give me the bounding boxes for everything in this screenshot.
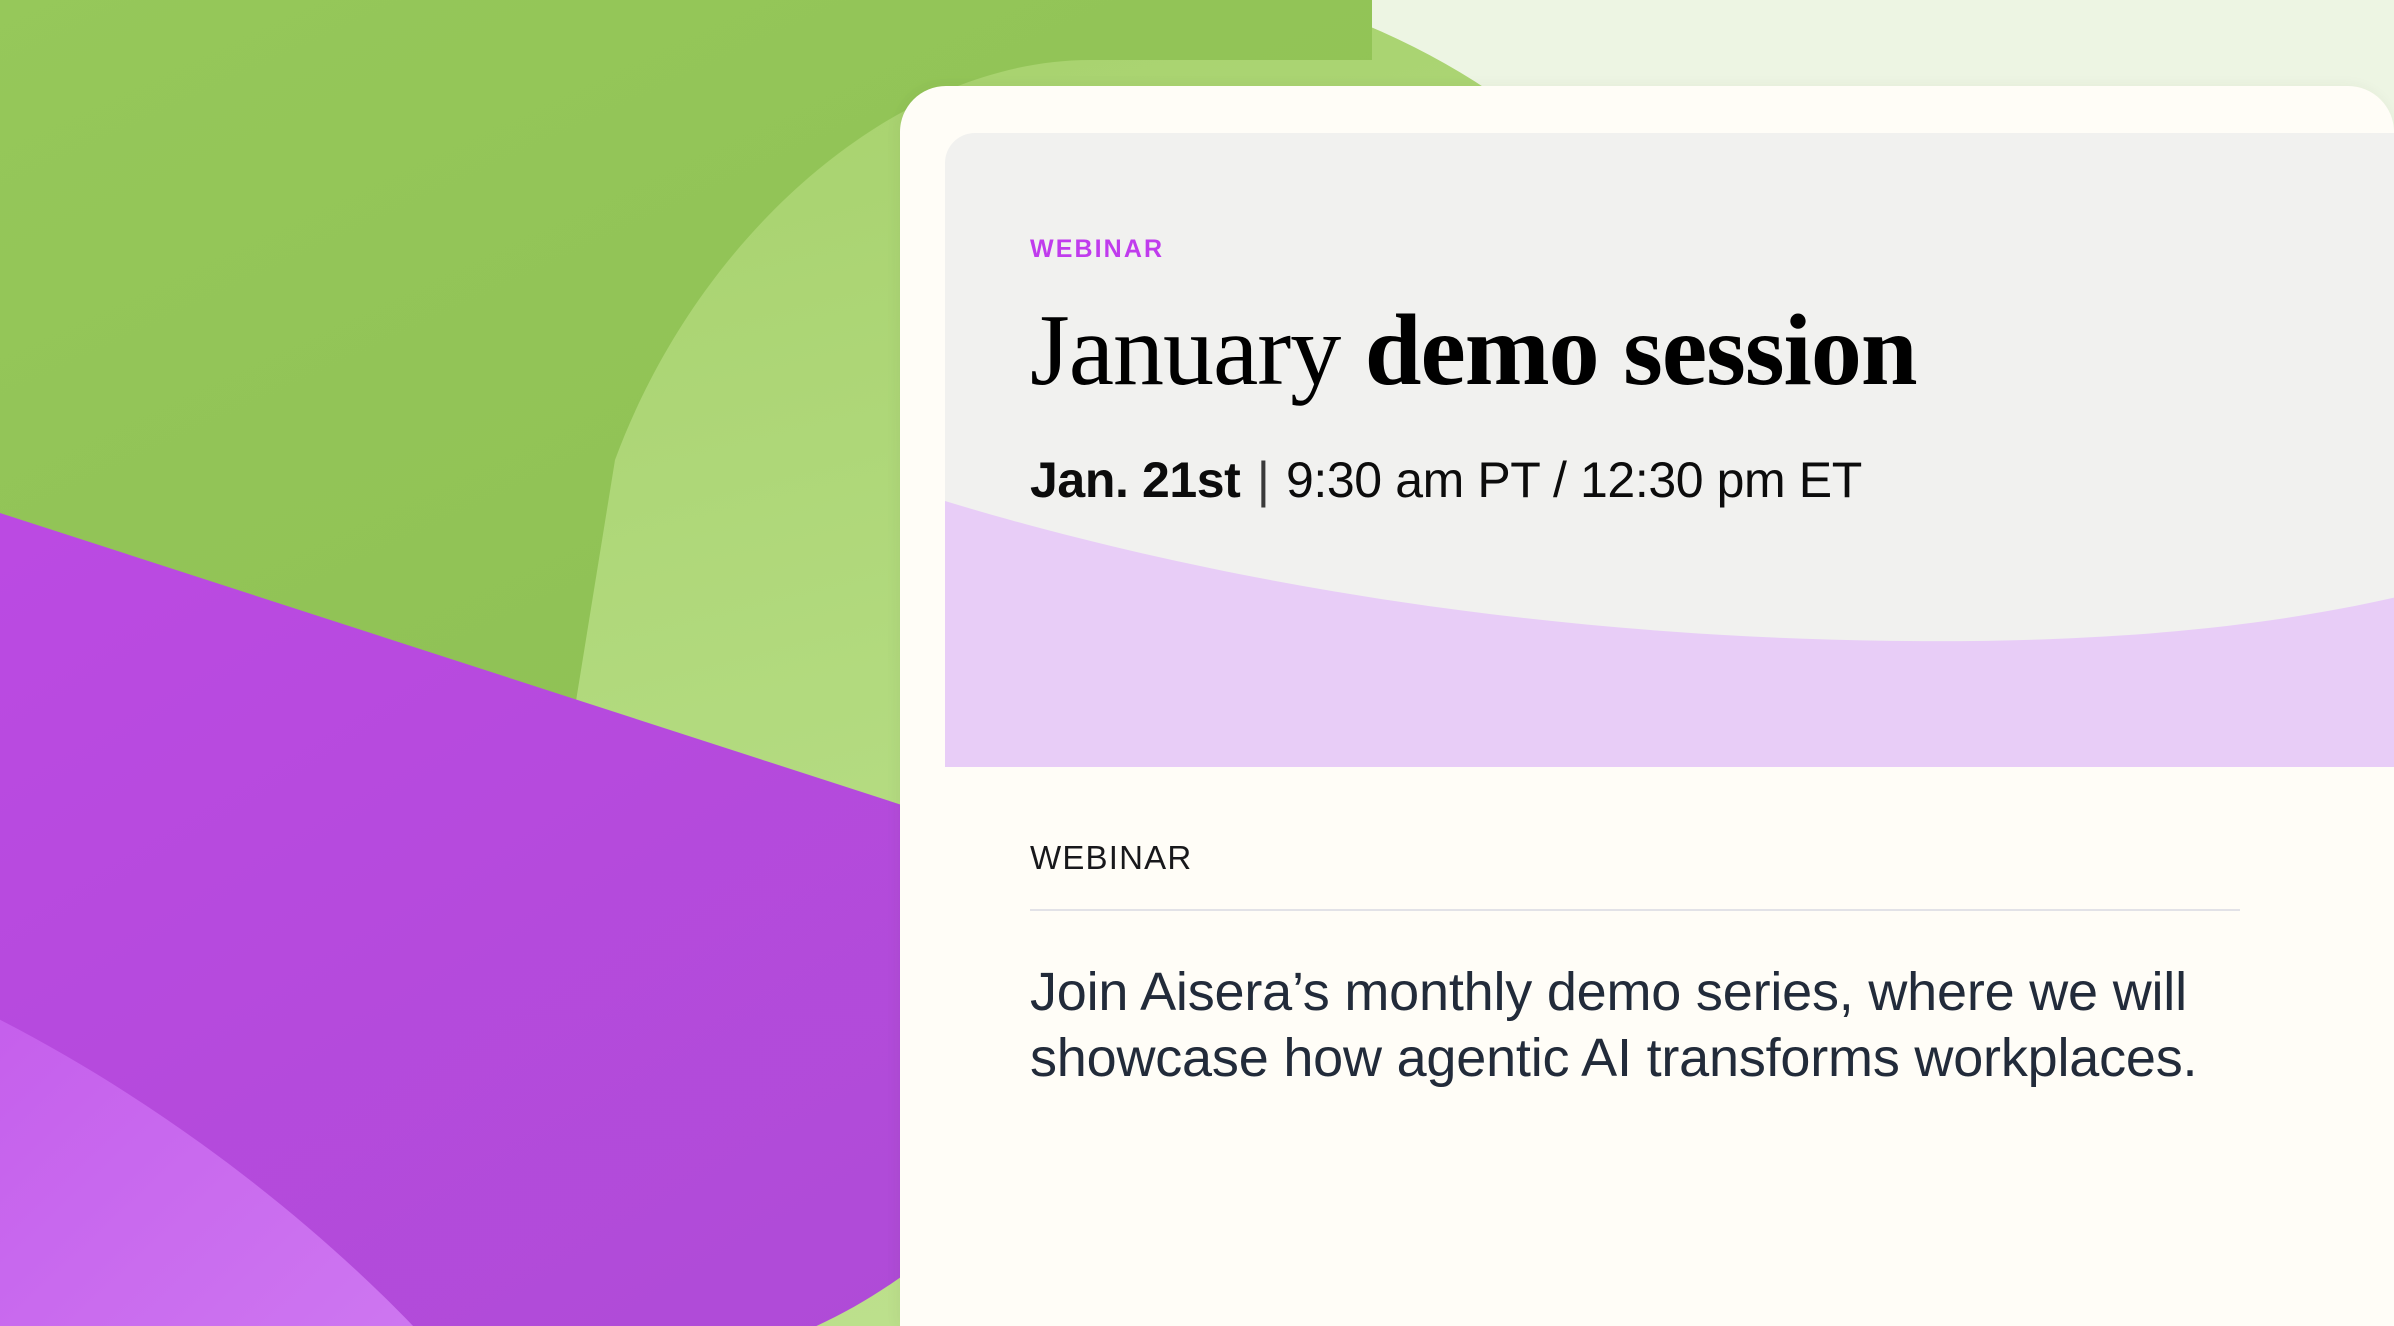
horizontal-divider: [1030, 909, 2240, 911]
card-body-block: WEBINAR Join Aisera’s monthly demo serie…: [1030, 841, 2245, 1092]
title-word-emphasis: demo session: [1365, 294, 1917, 407]
body-description: Join Aisera’s monthly demo series, where…: [1030, 959, 2245, 1092]
event-date: Jan. 21st: [1030, 452, 1254, 508]
promo-canvas: WEBINAR January demo session Jan. 21st |…: [0, 0, 2394, 1326]
hero-eyebrow-label: WEBINAR: [1030, 237, 2370, 262]
card-hero-panel: WEBINAR January demo session Jan. 21st |…: [945, 133, 2394, 767]
page-title: January demo session: [1030, 299, 2370, 403]
event-datetime: Jan. 21st | 9:30 am PT / 12:30 pm ET: [1030, 455, 2370, 505]
webinar-card[interactable]: WEBINAR January demo session Jan. 21st |…: [900, 86, 2394, 1326]
hero-text-block: WEBINAR January demo session Jan. 21st |…: [1030, 237, 2370, 505]
date-separator: |: [1254, 452, 1273, 508]
lavender-wave-path: [945, 501, 2394, 767]
body-kicker-label: WEBINAR: [1030, 841, 2245, 874]
event-time: 9:30 am PT / 12:30 pm ET: [1273, 452, 1862, 508]
title-word-month: January: [1030, 294, 1365, 407]
